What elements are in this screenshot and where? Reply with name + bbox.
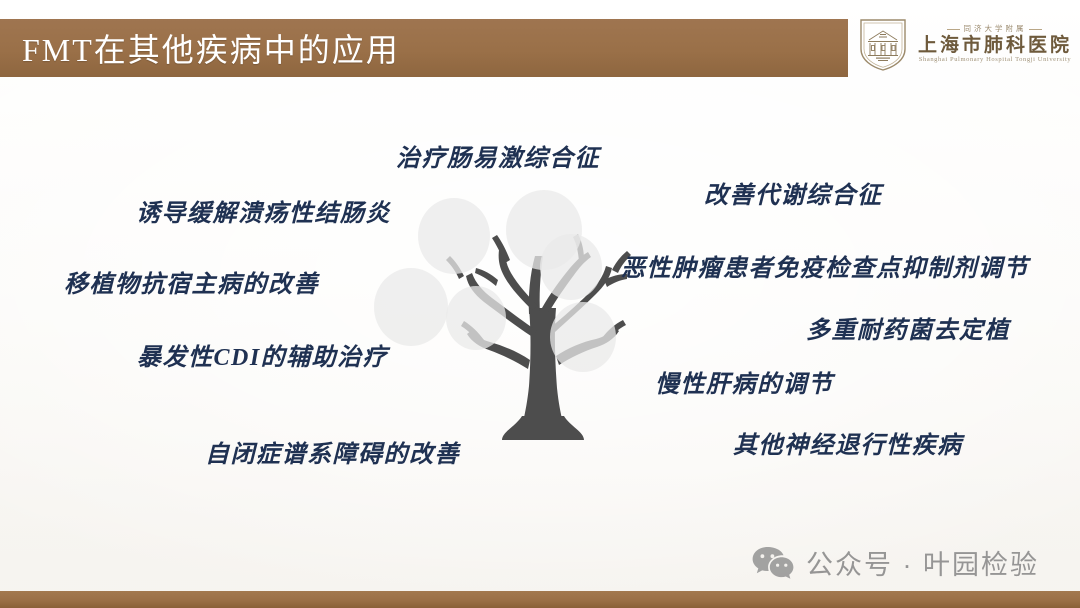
background-wash [0, 0, 1080, 608]
foliage-blob [550, 302, 616, 372]
application-item: 改善代谢综合征 [704, 175, 883, 210]
slide: FMT在其他疾病中的应用 同济大学附属 上海市肺科医院 [0, 0, 1080, 608]
header-band: FMT在其他疾病中的应用 [0, 19, 848, 77]
application-item: 自闭症谱系障碍的改善 [205, 434, 460, 469]
shield-building-crest-icon [858, 16, 908, 72]
foliage-blob [540, 234, 602, 300]
bare-tree-icon [398, 190, 688, 460]
bottom-bar [0, 591, 1080, 608]
page-title: FMT在其他疾病中的应用 [22, 25, 400, 71]
application-item: 其他神经退行性疾病 [733, 425, 963, 460]
logo-affiliation: 同济大学附属 [947, 25, 1042, 33]
application-item: 暴发性CDI的辅助治疗 [137, 337, 388, 372]
logo-english-name: Shanghai Pulmonary Hospital Tongji Unive… [919, 57, 1071, 64]
watermark-text: 公众号 · 叶园检验 [806, 543, 1039, 582]
application-item: 移植物抗宿主病的改善 [64, 264, 319, 299]
foliage-blob [506, 190, 582, 270]
wechat-watermark: 公众号 · 叶园检验 [752, 543, 1039, 582]
hospital-logo: 同济大学附属 上海市肺科医院 Shanghai Pulmonary Hospit… [858, 16, 1072, 72]
tree-foliage-blobs [398, 190, 688, 460]
application-item: 恶性肿瘤患者免疫检查点抑制剂调节 [621, 248, 1029, 283]
logo-hospital-name: 上海市肺科医院 [918, 36, 1072, 55]
tree-graphic [398, 190, 688, 460]
application-item: 治疗肠易激综合征 [396, 138, 600, 173]
foliage-blob [418, 198, 490, 274]
application-item: 慢性肝病的调节 [655, 364, 834, 399]
foliage-blob [374, 268, 448, 346]
application-item: 多重耐药菌去定植 [806, 310, 1010, 345]
background-building-engraving [0, 0, 1080, 608]
logo-text-block: 同济大学附属 上海市肺科医院 Shanghai Pulmonary Hospit… [918, 25, 1072, 63]
wechat-icon [752, 546, 794, 580]
foliage-blob [446, 286, 506, 350]
application-item: 诱导缓解溃疡性结肠炎 [136, 193, 391, 228]
